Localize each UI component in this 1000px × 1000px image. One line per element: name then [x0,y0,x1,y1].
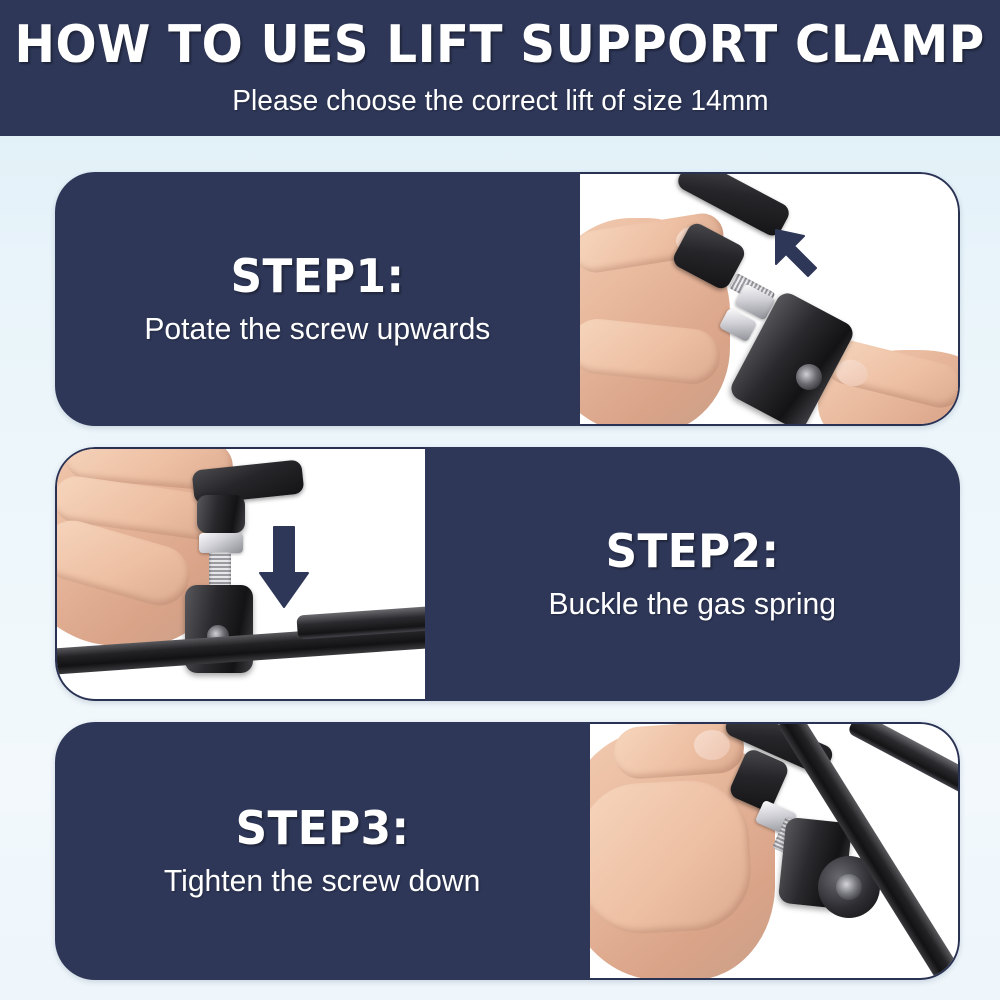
support-rod-upper [847,722,960,817]
step-3-text-pane: STEP3: Tighten the screw down [55,722,590,980]
step-2-photo [55,447,425,701]
header-banner: HOW TO UES LIFT SUPPORT CLAMP Please cho… [0,0,1000,136]
page-title: HOW TO UES LIFT SUPPORT CLAMP [15,16,985,74]
infographic-page: HOW TO UES LIFT SUPPORT CLAMP Please cho… [0,0,1000,1000]
step-1-description: Potate the screw upwards [145,310,491,348]
arrow-down-icon [257,525,311,611]
step-card-2: STEP2: Buckle the gas spring [55,447,960,701]
step-2-description: Buckle the gas spring [549,585,837,623]
step-1-photo [580,172,960,426]
step-2-text-pane: STEP2: Buckle the gas spring [425,447,960,701]
clamp-bore [796,364,822,390]
step-card-1: STEP1: Potate the screw upwards [55,172,960,426]
step-1-title: STEP1: [231,250,405,302]
finger-body [590,778,754,937]
step-1-text-pane: STEP1: Potate the screw upwards [55,172,580,426]
arrow-up-left-icon [770,224,828,282]
clamp-bore [836,874,862,900]
step-2-title: STEP2: [606,525,780,577]
fingernail [694,730,730,760]
step-card-3: STEP3: Tighten the screw down [55,722,960,980]
step-3-photo [590,722,960,980]
t-handle-hub [197,495,245,533]
page-subtitle: Please choose the correct lift of size 1… [232,84,768,118]
step-3-description: Tighten the screw down [164,862,480,900]
step-3-title: STEP3: [236,802,410,854]
hex-nut [199,533,243,553]
